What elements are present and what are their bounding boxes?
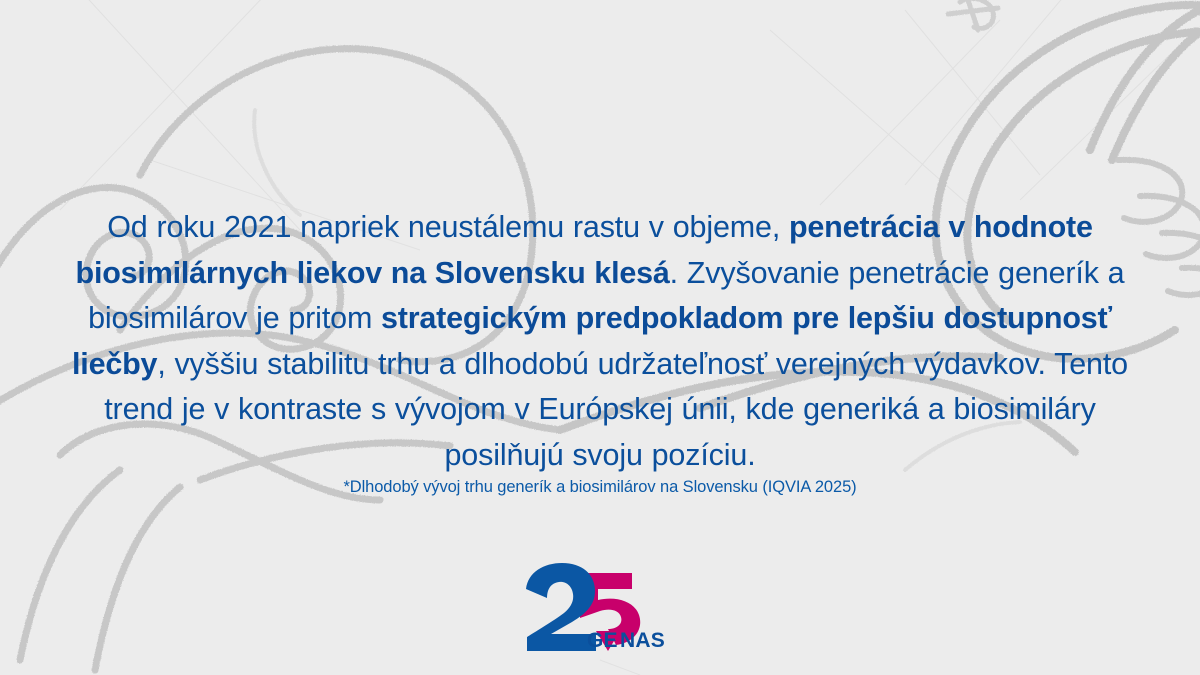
source-footnote: *Dlhodobý vývoj trhu generík a biosimilá…	[60, 476, 1140, 498]
headline-text: Od roku 2021 napriek neustálemu rastu v …	[107, 210, 789, 244]
content-layer: Od roku 2021 napriek neustálemu rastu v …	[0, 0, 1200, 675]
logo-numeral-two	[526, 563, 596, 651]
logo-wordmark-text-2: NAS	[620, 629, 665, 651]
genas-logo: GE NAS	[520, 563, 680, 651]
genas-logo-svg: GE NAS	[520, 563, 680, 651]
logo-wordmark-text: GE	[587, 629, 618, 651]
headline-text: , vyššiu stabilitu trhu a dlhodobú udrža…	[104, 347, 1128, 472]
logo-wordmark: GE NAS	[587, 629, 665, 651]
headline-paragraph: Od roku 2021 napriek neustálemu rastu v …	[60, 205, 1140, 478]
slide-root: Od roku 2021 napriek neustálemu rastu v …	[0, 0, 1200, 675]
